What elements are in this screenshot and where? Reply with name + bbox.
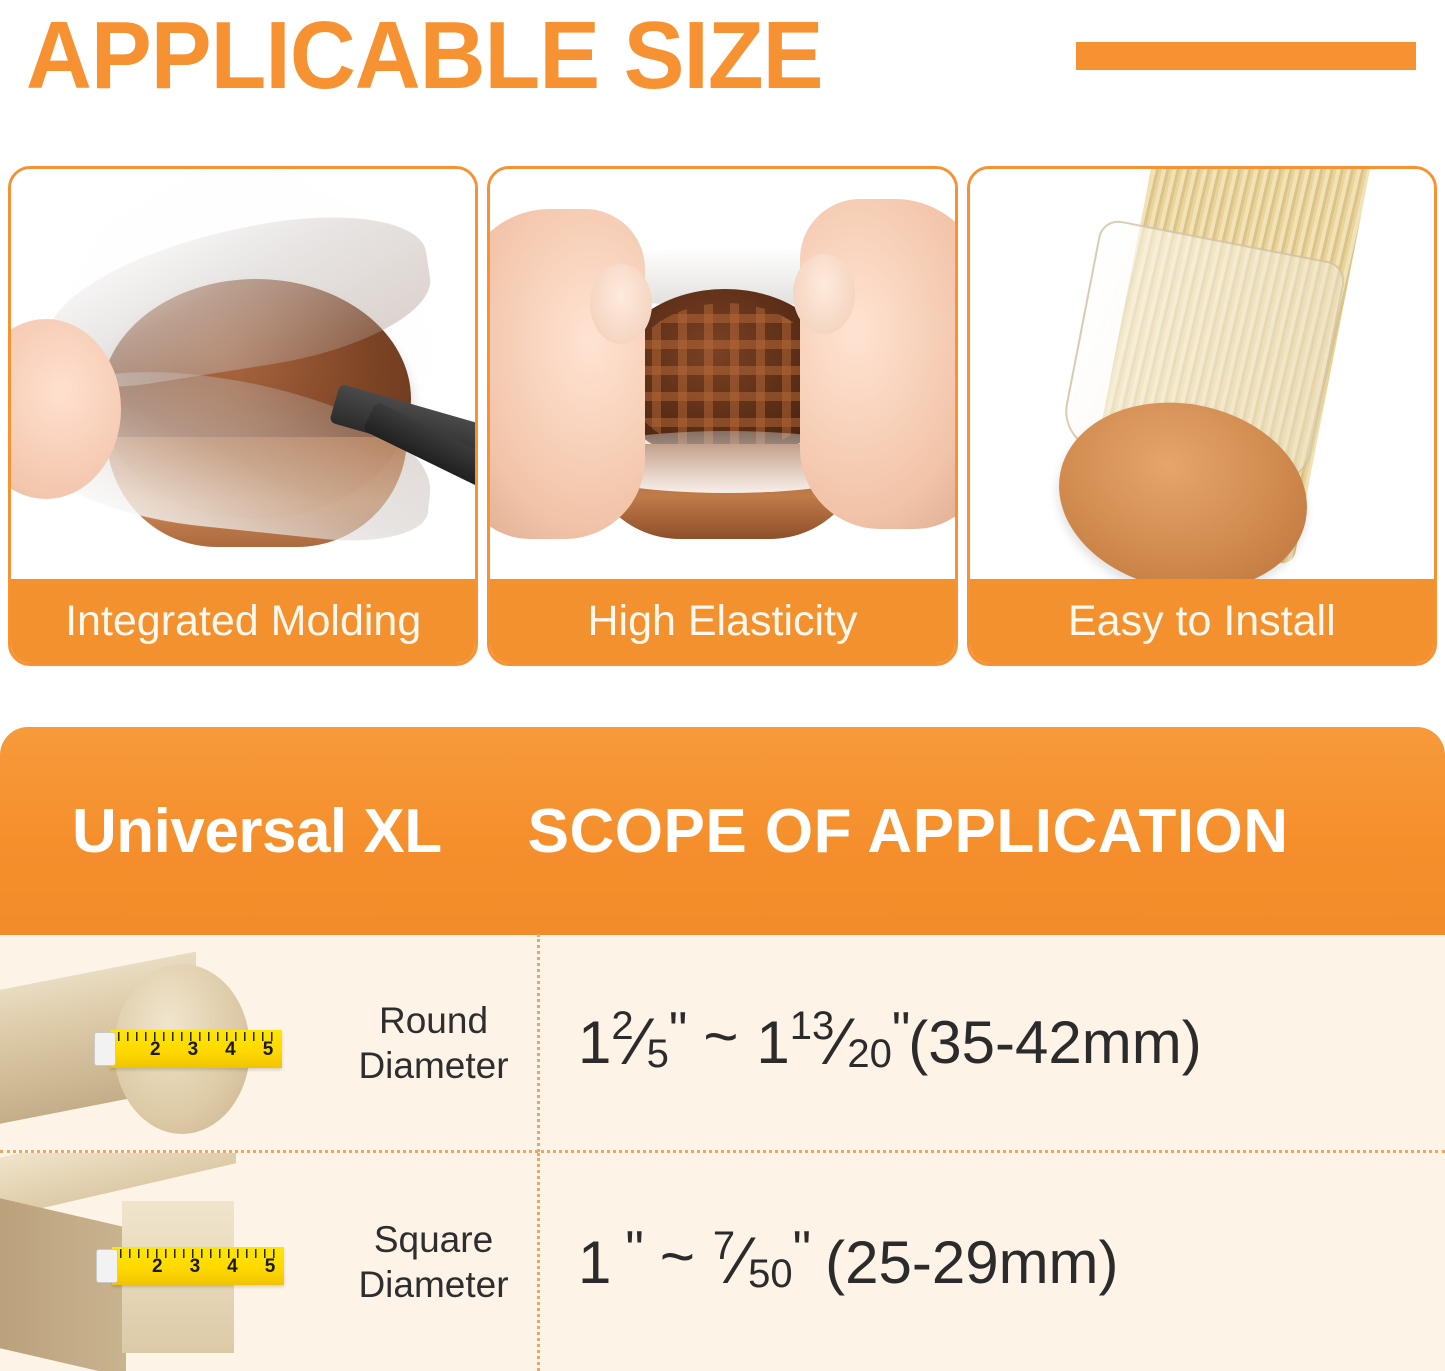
- square-max-fraction: 7 ⁄ 50: [713, 1222, 793, 1298]
- tape-hook-icon: [96, 1249, 118, 1283]
- infographic-page: APPLICABLE SIZE Integrated Molding: [0, 0, 1445, 1371]
- spec-photo-square-post: 2 3 4 5: [0, 1153, 330, 1371]
- tape-number: 4: [225, 1039, 236, 1061]
- fraction-denominator: 20: [847, 1032, 892, 1077]
- photo-hands-stretching-cap: [490, 169, 954, 579]
- tape-number: 5: [265, 1256, 276, 1278]
- spec-row-square: 2 3 4 5 Square Diameter 1 " ~ 7: [0, 1153, 1445, 1371]
- right-hand-shape: [800, 199, 955, 529]
- post-side-face: [0, 1195, 126, 1371]
- fraction-denominator: 50: [748, 1252, 793, 1297]
- feature-card-label: High Elasticity: [490, 579, 954, 663]
- fraction-numerator: 2: [611, 1004, 633, 1049]
- feature-card-high-elasticity: High Elasticity: [487, 166, 957, 666]
- inch-mark: ": [793, 1220, 809, 1280]
- banner-size-name: Universal XL: [72, 796, 442, 867]
- banner-heading: SCOPE OF APPLICATION: [528, 796, 1289, 867]
- tape-numbers: 2 3 4 5: [152, 1256, 275, 1278]
- spec-value-square: 1 " ~ 7 ⁄ 50 " (25-29mm): [540, 1224, 1445, 1300]
- feature-card-easy-to-install: Easy to Install: [967, 166, 1437, 666]
- left-hand-shape: [490, 209, 645, 539]
- square-post-graphic: 2 3 4 5: [0, 1161, 286, 1361]
- fraction-numerator: 13: [790, 1004, 835, 1049]
- spec-label-line-2: Diameter: [330, 1043, 537, 1088]
- tape-hook-icon: [94, 1032, 116, 1066]
- spec-label-line-2: Diameter: [330, 1262, 537, 1307]
- inch-mark: ": [669, 1001, 685, 1061]
- range-tilde: ~: [685, 1002, 756, 1071]
- inch-mark: ": [892, 1001, 908, 1061]
- scope-banner: Universal XL SCOPE OF APPLICATION: [0, 727, 1445, 935]
- page-title: APPLICABLE SIZE: [26, 8, 822, 104]
- spec-label-line-1: Square: [330, 1217, 537, 1262]
- header-accent-bar: [1076, 42, 1416, 70]
- feature-card-label: Integrated Molding: [11, 579, 475, 663]
- fraction-denominator: 5: [647, 1032, 669, 1077]
- right-thumbnail-shape: [793, 254, 855, 334]
- tape-number: 3: [190, 1256, 201, 1278]
- square-metric-range: (25-29mm): [809, 1228, 1118, 1297]
- photo-backdrop: [11, 169, 475, 579]
- tape-number: 3: [188, 1039, 199, 1061]
- fraction-slash: ⁄: [634, 1003, 647, 1079]
- round-min-fraction: 2 ⁄ 5: [611, 1003, 669, 1079]
- feature-card-integrated-molding: Integrated Molding: [8, 166, 478, 666]
- photo-silicone-cap-stretched: [11, 169, 475, 579]
- spec-label-square: Square Diameter: [330, 1153, 540, 1371]
- spec-label-line-1: Round: [330, 998, 537, 1043]
- photo-backdrop: [490, 169, 954, 579]
- range-tilde: ~: [642, 1222, 713, 1291]
- tape-number: 4: [227, 1256, 238, 1278]
- photo-wooden-leg-with-cap: [970, 169, 1434, 579]
- round-max-whole: 1: [756, 1008, 789, 1077]
- round-metric-range: (35-42mm): [908, 1008, 1201, 1077]
- tape-number: 2: [150, 1039, 161, 1061]
- fraction-numerator: 7: [713, 1224, 735, 1269]
- spec-value-round: 1 2 ⁄ 5 " ~ 1 13 ⁄ 20 " (35-42mm): [540, 1005, 1445, 1081]
- spec-row-round: 2 3 4 5 Round Diameter 1 2 ⁄ 5: [0, 935, 1445, 1153]
- fraction-slash: ⁄: [834, 1003, 847, 1079]
- tape-measure: 2 3 4 5: [112, 1247, 284, 1285]
- spec-photo-round-dowel: 2 3 4 5: [0, 934, 330, 1152]
- spec-label-round: Round Diameter: [330, 934, 540, 1152]
- feature-card-label: Easy to Install: [970, 579, 1434, 663]
- inch-mark: ": [625, 1220, 641, 1280]
- photo-backdrop: [970, 169, 1434, 579]
- feature-card-list: Integrated Molding High Elasticity: [0, 166, 1445, 666]
- square-min-whole: 1: [578, 1228, 611, 1297]
- tape-number: 5: [263, 1039, 274, 1061]
- tape-numbers: 2 3 4 5: [150, 1039, 273, 1061]
- spec-table: 2 3 4 5 Round Diameter 1 2 ⁄ 5: [0, 935, 1445, 1371]
- fraction-slash: ⁄: [735, 1222, 748, 1298]
- tape-measure: 2 3 4 5: [110, 1030, 282, 1068]
- round-dowel-graphic: 2 3 4 5: [0, 948, 276, 1134]
- round-max-fraction: 13 ⁄ 20: [790, 1003, 892, 1079]
- left-thumbnail-shape: [590, 264, 652, 344]
- tape-number: 2: [152, 1256, 163, 1278]
- round-min-whole: 1: [578, 1008, 611, 1077]
